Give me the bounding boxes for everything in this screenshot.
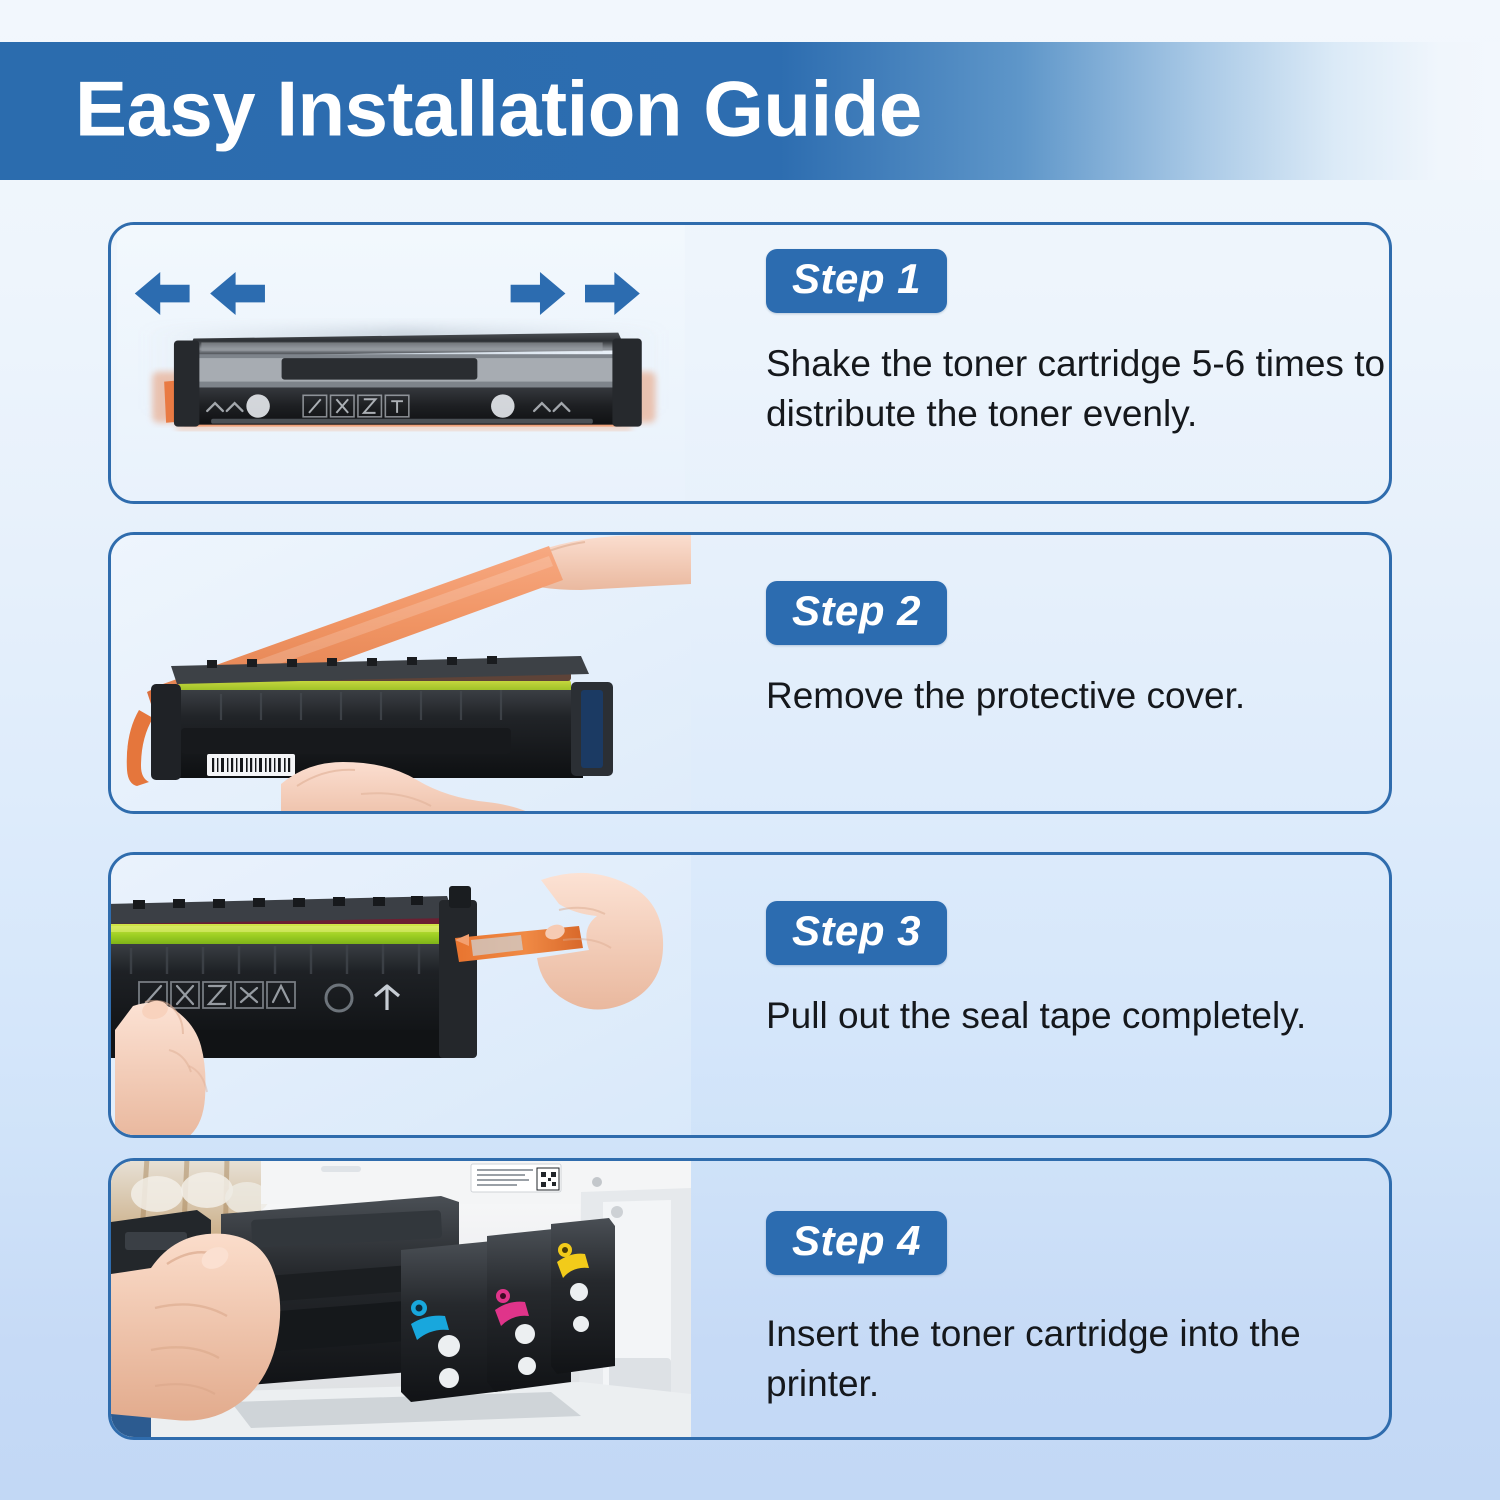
step-3-body: Step 3 Pull out the seal tape completely… <box>766 855 1389 1135</box>
barcode-label <box>207 754 295 776</box>
step-2-body: Step 2 Remove the protective cover. <box>766 535 1389 811</box>
step-badge-1: Step 1 <box>766 249 947 313</box>
step-card-2: Step 2 Remove the protective cover. <box>108 532 1392 814</box>
step-badge-4: Step 4 <box>766 1211 947 1275</box>
step-badge-3: Step 3 <box>766 901 947 965</box>
step-card-4: Step 4 Insert the toner cartridge into t… <box>108 1158 1392 1440</box>
step-badge-2: Step 2 <box>766 581 947 645</box>
step-card-1: Step 1 Shake the toner cartridge 5-6 tim… <box>108 222 1392 504</box>
step-4-body: Step 4 Insert the toner cartridge into t… <box>766 1161 1389 1437</box>
hand-inserting-toner-into-printer-illustration <box>111 1161 691 1437</box>
step-1-image <box>111 225 691 501</box>
step-text-3: Pull out the seal tape completely. <box>766 991 1389 1041</box>
step-1-body: Step 1 Shake the toner cartridge 5-6 tim… <box>766 225 1389 501</box>
step-2-image <box>111 535 691 811</box>
hand-removing-protective-cover-illustration <box>111 535 691 811</box>
printer-cartridge-bay <box>221 1196 615 1402</box>
header-banner: Easy Installation Guide <box>0 42 1500 180</box>
qr-code <box>537 1168 559 1190</box>
step-3-image <box>111 855 691 1135</box>
step-text-4: Insert the toner cartridge into the prin… <box>766 1309 1386 1408</box>
step-text-2: Remove the protective cover. <box>766 671 1386 721</box>
toner-cartridge <box>151 656 613 780</box>
step-text-1: Shake the toner cartridge 5-6 times to d… <box>766 339 1386 438</box>
step-card-3: Step 3 Pull out the seal tape completely… <box>108 852 1392 1138</box>
hand-pulling-seal-tape-illustration <box>111 855 691 1135</box>
toner-cartridge-shaking-illustration <box>111 225 691 501</box>
page-title: Easy Installation Guide <box>75 64 922 155</box>
step-4-image <box>111 1161 691 1437</box>
toner-cartridge <box>174 333 642 427</box>
